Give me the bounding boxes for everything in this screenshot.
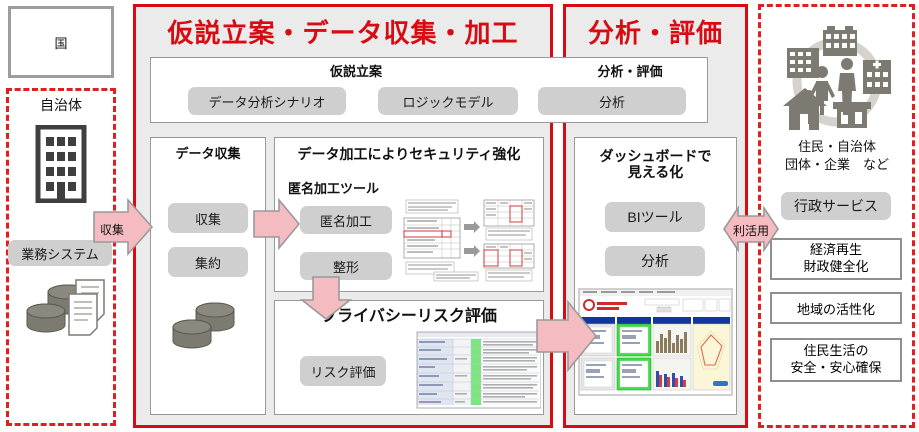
anonymization-flow-thumbnail bbox=[398, 196, 538, 284]
community-illustration-icon bbox=[775, 24, 899, 134]
outcome-safety: 住民生活の 安全・安心確保 bbox=[770, 338, 902, 382]
municipality-label: 自治体 bbox=[6, 94, 116, 116]
panel-left-title: 仮説立案・データ収集・加工 bbox=[140, 14, 546, 54]
outcome-economy-line1: 経済再生 bbox=[810, 242, 862, 259]
risk-assessment-table-thumbnail bbox=[415, 330, 541, 410]
hypothesis-band-label-left: 仮説立案 bbox=[196, 62, 516, 82]
pill-aggregate[interactable]: 集約 bbox=[168, 247, 248, 277]
national-government-box: 国 bbox=[8, 6, 114, 78]
utilize-arrow-label: 利活用 bbox=[733, 222, 769, 239]
pill-analysis-top[interactable]: 分析 bbox=[538, 87, 686, 115]
stakeholders-label-line2: 団体・企業 など bbox=[785, 156, 889, 174]
dashboard-title-line1: ダッシュボードで bbox=[600, 148, 712, 164]
data-collection-title: データ収集 bbox=[150, 144, 266, 164]
outcome-region: 地域の活性化 bbox=[770, 292, 902, 324]
panel-right-title: 分析・評価 bbox=[566, 14, 745, 54]
database-documents-icon bbox=[22, 278, 114, 340]
data-processing-title: データ加工によりセキュリティ強化 bbox=[276, 144, 542, 164]
outcome-economy-line2: 財政健全化 bbox=[803, 259, 868, 276]
outcome-admin-service[interactable]: 行政サービス bbox=[781, 192, 891, 220]
stakeholders-label: 住民・自治体 団体・企業 など bbox=[762, 138, 912, 174]
dashboard-title: ダッシュボードで 見える化 bbox=[576, 144, 735, 184]
pill-data-analysis-scenario[interactable]: データ分析シナリオ bbox=[188, 87, 346, 115]
to-processing-arrow-icon bbox=[253, 198, 301, 250]
collect-arrow-label: 収集 bbox=[100, 221, 124, 238]
dashboard-title-line2: 見える化 bbox=[628, 164, 684, 180]
pill-risk-assessment[interactable]: リスク評価 bbox=[300, 356, 386, 386]
stakeholders-label-line1: 住民・自治体 bbox=[798, 138, 876, 156]
to-analysis-arrow-icon bbox=[536, 300, 598, 372]
pill-collect[interactable]: 収集 bbox=[168, 203, 248, 233]
database-stack-icon bbox=[168, 300, 246, 352]
pill-anonymize[interactable]: 匿名加工 bbox=[300, 206, 392, 234]
diagram-canvas: 国 自治体 業務システム bbox=[0, 0, 919, 432]
outcome-economy: 経済再生 財政健全化 bbox=[770, 238, 902, 280]
pill-bi-tool[interactable]: BIツール bbox=[605, 202, 705, 232]
national-government-label: 国 bbox=[54, 33, 67, 52]
office-building-icon bbox=[35, 125, 87, 203]
pill-analysis[interactable]: 分析 bbox=[605, 246, 705, 276]
to-risk-arrow-icon bbox=[300, 276, 352, 320]
hypothesis-band-label-right: 分析・評価 bbox=[560, 62, 700, 82]
pill-logic-model[interactable]: ロジックモデル bbox=[378, 87, 518, 115]
outcome-safety-line1: 住民生活の bbox=[803, 343, 868, 360]
bi-dashboard-thumbnail bbox=[578, 288, 733, 396]
outcome-safety-line2: 安全・安心確保 bbox=[790, 360, 881, 377]
